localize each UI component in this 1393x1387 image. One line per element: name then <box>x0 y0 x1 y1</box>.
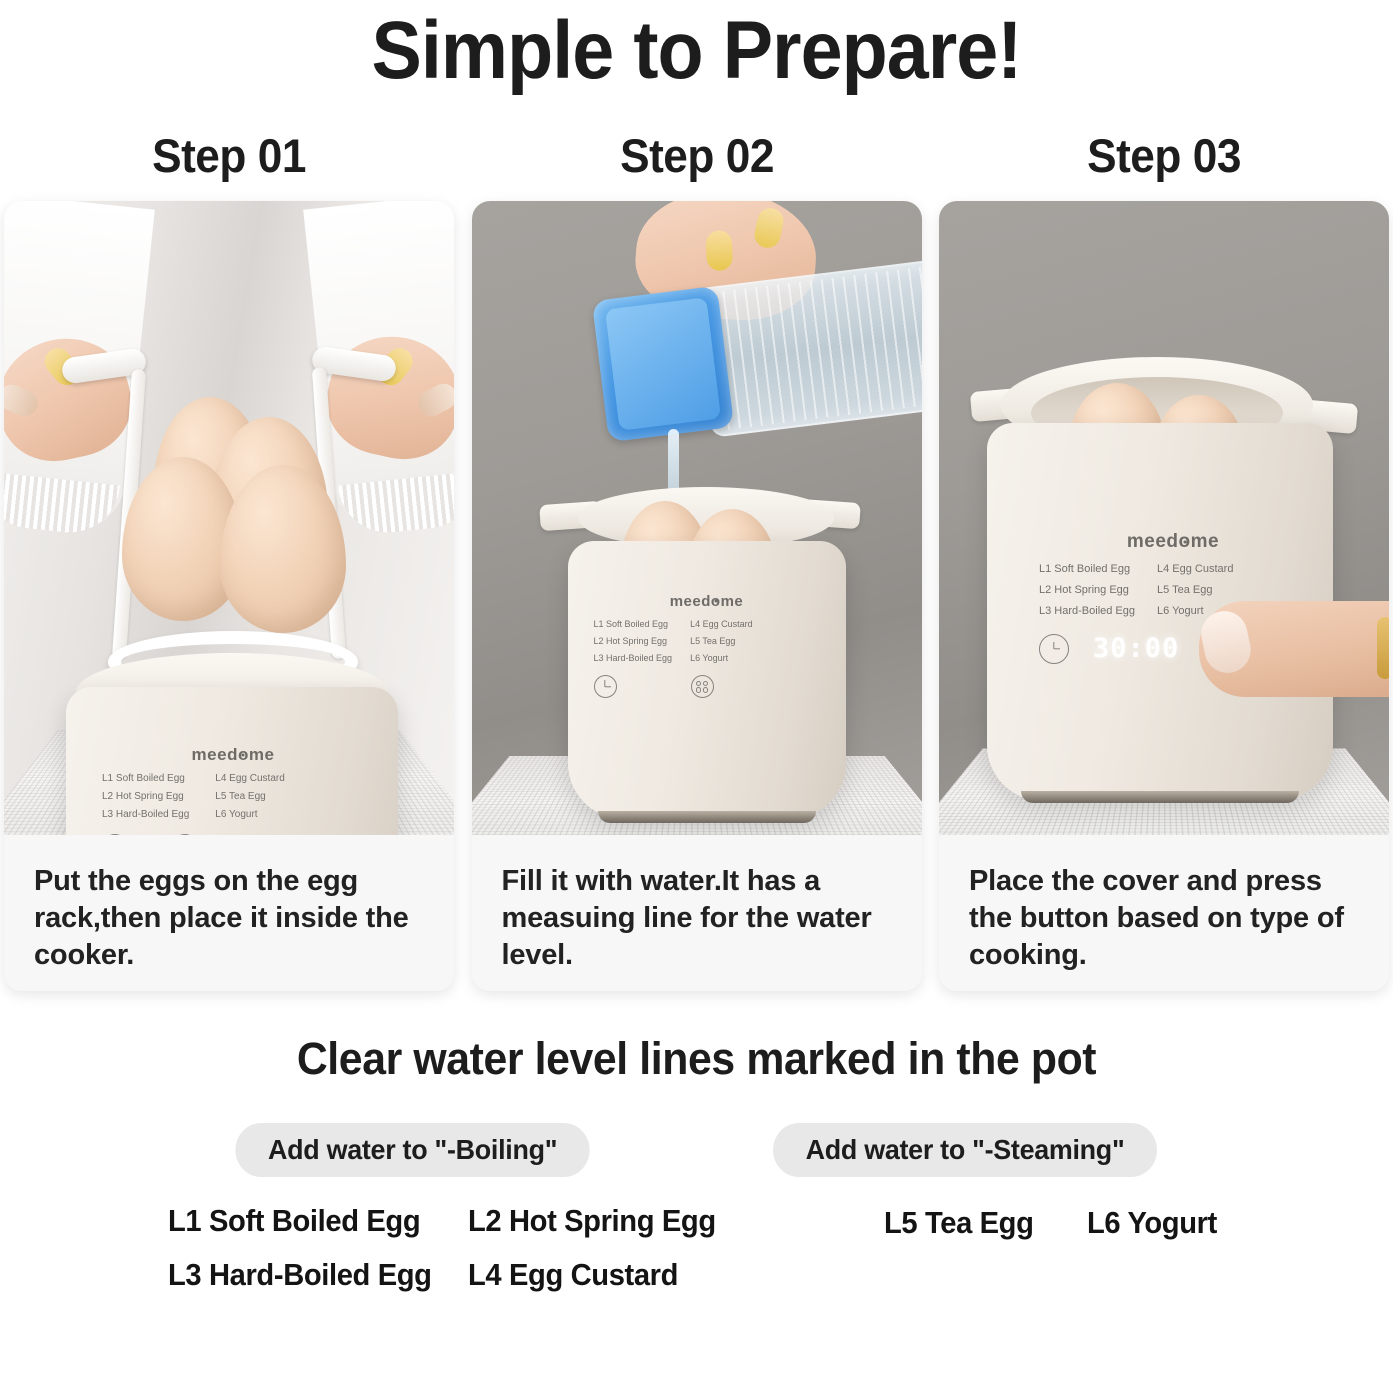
boiling-mode-list: L1 Soft Boiled Egg L2 Hot Spring Egg L3 … <box>168 1203 732 1293</box>
step-card-3: Step 03 meedome <box>939 128 1389 991</box>
clock-icon[interactable] <box>594 675 617 698</box>
panel-icon-row <box>102 834 364 835</box>
step-caption-1: Put the eggs on the egg rack,then place … <box>4 835 454 991</box>
step-label-3: Step 03 <box>953 128 1376 183</box>
step-card-2: Step 02 <box>472 128 922 991</box>
mode-item[interactable]: L2 Hot Spring Egg <box>102 791 189 802</box>
bottle-ribs <box>700 265 922 431</box>
steaming-mode-list: L5 Tea Egg L6 Yogurt <box>884 1203 1225 1293</box>
clock-icon[interactable] <box>1039 634 1069 664</box>
egg-grid-icon[interactable] <box>691 675 714 698</box>
list-item: L5 Tea Egg <box>884 1205 1034 1241</box>
mode-item[interactable]: L2 Hot Spring Egg <box>594 636 673 646</box>
page-title: Simple to Prepare! <box>56 0 1338 94</box>
list-item: L1 Soft Boiled Egg <box>168 1203 450 1239</box>
mode-column-left: L1 Soft Boiled Egg L2 Hot Spring Egg L3 … <box>594 619 673 663</box>
step-label-2: Step 02 <box>485 128 908 183</box>
fingernail <box>4 381 42 421</box>
mode-item[interactable]: L5 Tea Egg <box>215 791 285 802</box>
mode-item[interactable]: L4 Egg Custard <box>1157 563 1233 575</box>
mode-item[interactable]: L1 Soft Boiled Egg <box>102 773 189 784</box>
mode-column-left: L1 Soft Boiled Egg L2 Hot Spring Egg L3 … <box>102 773 189 820</box>
list-item: L4 Egg Custard <box>468 1257 716 1293</box>
step-card-1: Step 01 <box>4 128 454 991</box>
step-photo-3: meedome L1 Soft Boiled Egg L2 Hot Spring… <box>939 201 1389 835</box>
timer-display: 30:00 <box>1093 633 1179 664</box>
water-level-lists: L1 Soft Boiled Egg L2 Hot Spring Egg L3 … <box>0 1203 1393 1293</box>
steaming-pill: Add water to "-Steaming" <box>773 1123 1157 1177</box>
boiling-pill: Add water to "-Boiling" <box>235 1123 589 1177</box>
fingernail <box>705 230 732 271</box>
mode-item[interactable]: L3 Hard-Boiled Egg <box>1039 605 1135 617</box>
steps-row: Step 01 <box>0 128 1393 991</box>
mode-item[interactable]: L6 Yogurt <box>690 653 753 663</box>
cooker-control-panel[interactable]: meedome L1 Soft Boiled Egg L2 Hot Spring… <box>102 745 364 835</box>
mode-item[interactable]: L3 Hard-Boiled Egg <box>102 809 189 820</box>
cooker-foot <box>1021 791 1299 803</box>
mode-columns: L1 Soft Boiled Egg L2 Hot Spring Egg L3 … <box>594 619 820 663</box>
cooker-control-panel[interactable]: meedome L1 Soft Boiled Egg L2 Hot Spring… <box>594 593 820 698</box>
step-caption-2: Fill it with water.It has a measuing lin… <box>472 835 922 991</box>
mode-item[interactable]: L4 Egg Custard <box>690 619 753 629</box>
mode-item[interactable]: L5 Tea Egg <box>690 636 753 646</box>
step-caption-3: Place the cover and press the button bas… <box>939 835 1389 991</box>
step-photo-1: meedome L1 Soft Boiled Egg L2 Hot Spring… <box>4 201 454 835</box>
list-item: L3 Hard-Boiled Egg <box>168 1257 450 1293</box>
cooker-body: meedome L1 Soft Boiled Egg L2 Hot Spring… <box>66 687 398 835</box>
mode-item[interactable]: L3 Hard-Boiled Egg <box>594 653 673 663</box>
mode-item[interactable]: L1 Soft Boiled Egg <box>594 619 673 629</box>
bottle-cap <box>591 286 733 442</box>
step-photo-2: meedome L1 Soft Boiled Egg L2 Hot Spring… <box>472 201 922 835</box>
mode-column-right: L4 Egg Custard L5 Tea Egg L6 Yogurt <box>215 773 285 820</box>
step-label-1: Step 01 <box>18 128 441 183</box>
brand-logo: meedome <box>670 593 744 610</box>
cooker-body: meedome L1 Soft Boiled Egg L2 Hot Spring… <box>568 541 846 819</box>
mode-item[interactable]: L1 Soft Boiled Egg <box>1039 563 1135 575</box>
egg-grid-icon[interactable] <box>172 834 198 835</box>
water-level-title: Clear water level lines marked in the po… <box>35 1033 1358 1085</box>
panel-icon-row <box>594 675 820 698</box>
water-level-section: Clear water level lines marked in the po… <box>0 1033 1393 1293</box>
step-card-container-1: meedome L1 Soft Boiled Egg L2 Hot Spring… <box>4 201 454 991</box>
list-item: L2 Hot Spring Egg <box>468 1203 716 1239</box>
fingernail <box>752 206 786 251</box>
fingernail <box>414 379 454 421</box>
mode-column-right: L4 Egg Custard L5 Tea Egg L6 Yogurt <box>690 619 753 663</box>
mode-columns: L1 Soft Boiled Egg L2 Hot Spring Egg L3 … <box>102 773 364 820</box>
step-card-container-3: meedome L1 Soft Boiled Egg L2 Hot Spring… <box>939 201 1389 991</box>
list-item: L6 Yogurt <box>1087 1205 1217 1241</box>
finger-ring <box>1377 617 1389 679</box>
step-card-container-2: meedome L1 Soft Boiled Egg L2 Hot Spring… <box>472 201 922 991</box>
cap-inner <box>604 297 720 431</box>
cooker-foot <box>598 811 816 823</box>
mode-item[interactable]: L6 Yogurt <box>215 809 285 820</box>
brand-logo: meedome <box>192 745 275 765</box>
water-level-pills: Add water to "-Boiling" Add water to "-S… <box>0 1123 1393 1177</box>
mode-item[interactable]: L5 Tea Egg <box>1157 584 1233 596</box>
brand-logo: meedome <box>1127 531 1219 553</box>
hand-pressing <box>1199 601 1389 697</box>
mode-item[interactable]: L4 Egg Custard <box>215 773 285 784</box>
clock-icon[interactable] <box>102 834 128 835</box>
mode-column-left: L1 Soft Boiled Egg L2 Hot Spring Egg L3 … <box>1039 563 1135 617</box>
mode-item[interactable]: L2 Hot Spring Egg <box>1039 584 1135 596</box>
